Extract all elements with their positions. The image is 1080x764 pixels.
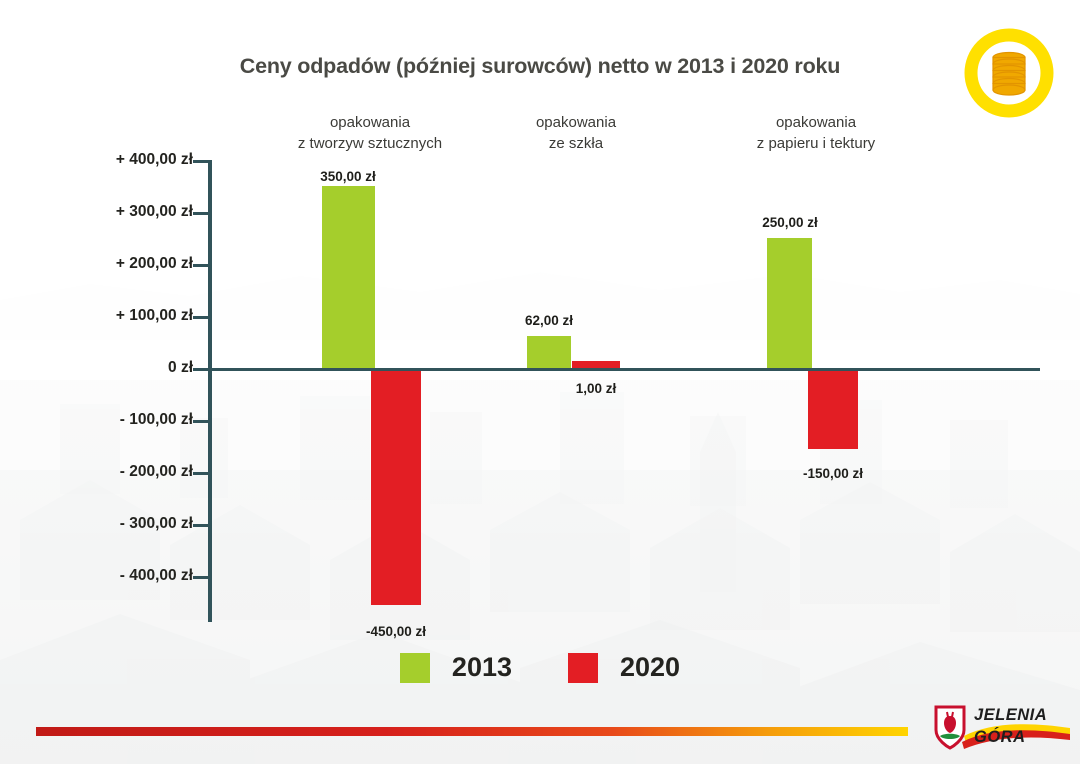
y-label-row: - 300,00 zł xyxy=(50,515,193,535)
y-tick-m100 xyxy=(193,420,208,423)
bar-value-2020-glass: 1,00 zł xyxy=(536,381,656,396)
y-axis-line xyxy=(208,160,212,622)
bar-2020-plastic[interactable] xyxy=(371,371,421,605)
y-label-row: + 400,00 zł xyxy=(50,151,193,171)
bar-2013-paper[interactable] xyxy=(767,238,812,368)
y-tick-400 xyxy=(193,160,208,163)
legend-label-2020: 2020 xyxy=(620,652,680,683)
y-tick-0 xyxy=(193,368,208,371)
bar-chart-plot: + 400,00 zł + 300,00 zł + 200,00 zł + 10… xyxy=(0,0,1080,764)
y-axis-label-m300: - 300,00 zł xyxy=(63,515,193,533)
bottom-gradient-rule xyxy=(36,727,908,736)
y-tick-m300 xyxy=(193,524,208,527)
y-axis-label-300: + 300,00 zł xyxy=(63,203,193,221)
bar-2013-plastic[interactable] xyxy=(322,186,375,368)
jelenia-gora-logo: JELENIA GÓRA xyxy=(930,702,1072,756)
bar-value-2013-paper: 250,00 zł xyxy=(730,215,850,230)
zero-baseline xyxy=(208,368,1040,371)
legend-label-2013: 2013 xyxy=(452,652,512,683)
legend-item-2013[interactable]: 2013 xyxy=(400,652,512,683)
legend-item-2020[interactable]: 2020 xyxy=(568,652,680,683)
y-tick-m400 xyxy=(193,576,208,579)
coat-of-arms-icon xyxy=(936,707,964,748)
y-label-row: 0 zł xyxy=(50,359,193,379)
y-axis-label-m400: - 400,00 zł xyxy=(63,567,193,585)
y-axis-label-100: + 100,00 zł xyxy=(63,307,193,325)
bar-value-2020-paper: -150,00 zł xyxy=(773,466,893,481)
legend-swatch-2020 xyxy=(568,653,598,683)
city-logo-text: JELENIA GÓRA xyxy=(974,704,1047,748)
chart-legend: 2013 2020 xyxy=(0,652,1080,683)
y-tick-100 xyxy=(193,316,208,319)
y-tick-m200 xyxy=(193,472,208,475)
legend-swatch-2013 xyxy=(400,653,430,683)
y-label-row: - 400,00 zł xyxy=(50,567,193,587)
bar-2020-glass[interactable] xyxy=(572,361,620,368)
y-tick-300 xyxy=(193,212,208,215)
y-tick-200 xyxy=(193,264,208,267)
poster-root: Ceny odpadów (później surowców) netto w … xyxy=(0,0,1080,764)
bar-value-2020-plastic: -450,00 zł xyxy=(336,624,456,639)
y-axis-label-200: + 200,00 zł xyxy=(63,255,193,273)
y-label-row: - 200,00 zł xyxy=(50,463,193,483)
y-label-row: + 300,00 zł xyxy=(50,203,193,223)
bar-2013-glass[interactable] xyxy=(527,336,571,368)
y-axis-label-m200: - 200,00 zł xyxy=(63,463,193,481)
y-label-row: - 100,00 zł xyxy=(50,411,193,431)
y-axis-label-400: + 400,00 zł xyxy=(63,151,193,169)
y-axis-label-0: 0 zł xyxy=(63,359,193,377)
y-axis-label-m100: - 100,00 zł xyxy=(63,411,193,429)
bar-2020-paper[interactable] xyxy=(808,371,858,449)
city-logo-line2: GÓRA xyxy=(974,726,1047,748)
y-label-row: + 100,00 zł xyxy=(50,307,193,327)
bar-value-2013-glass: 62,00 zł xyxy=(489,313,609,328)
city-logo-line1: JELENIA xyxy=(974,704,1047,726)
y-label-row: + 200,00 zł xyxy=(50,255,193,275)
bar-value-2013-plastic: 350,00 zł xyxy=(288,169,408,184)
